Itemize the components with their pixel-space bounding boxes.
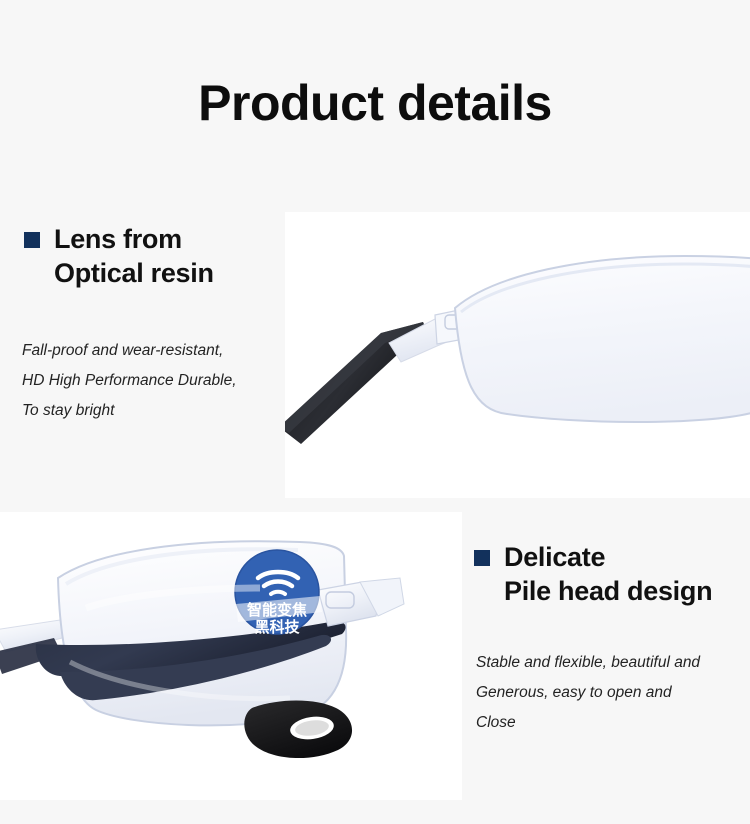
page-title: Product details — [0, 74, 750, 132]
feature-body-lens-optical-resin: Fall-proof and wear-resistant, HD High P… — [22, 336, 237, 426]
square-bullet-icon — [474, 550, 490, 566]
eyeglasses-lens-closeup-photo — [285, 212, 750, 498]
product-details-page: Product details — [0, 0, 750, 824]
feature-title-lens-optical-resin: Lens from Optical resin — [54, 222, 214, 290]
sticker-line-1: 智能变焦 — [247, 601, 307, 619]
square-bullet-icon — [24, 232, 40, 248]
sticker-line-2: 黑科技 — [254, 618, 300, 636]
feature-heading-delicate-pile-head: Delicate Pile head design — [474, 540, 712, 608]
feature-heading-lens-optical-resin: Lens from Optical resin — [24, 222, 214, 290]
eyeglasses-folded-temple-photo: 智能变焦 黑科技 — [0, 512, 462, 800]
feature-body-delicate-pile-head: Stable and flexible, beautiful and Gener… — [476, 648, 700, 738]
feature-title-delicate-pile-head: Delicate Pile head design — [504, 540, 712, 608]
